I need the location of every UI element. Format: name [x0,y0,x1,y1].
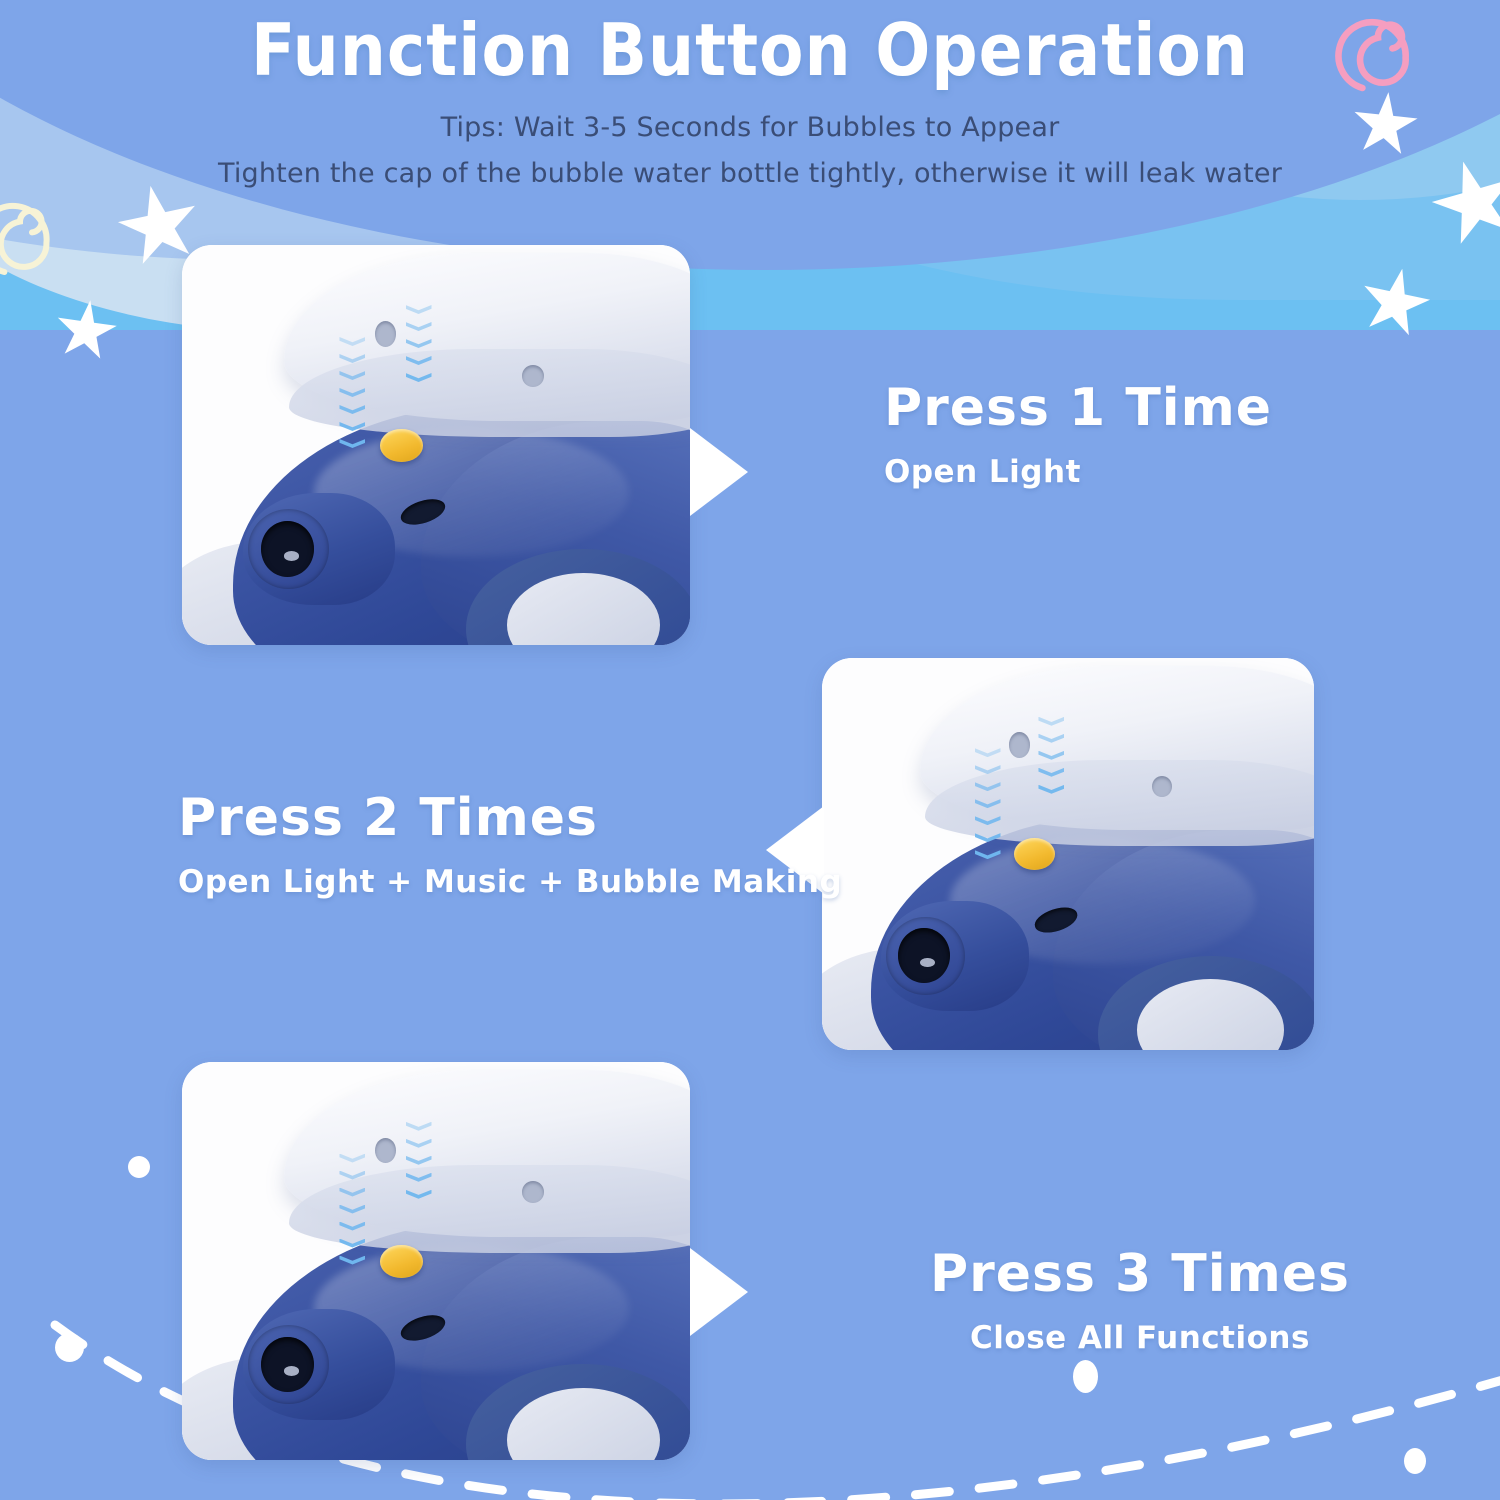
light-chevron-column [975,748,1001,878]
function-button[interactable] [380,429,423,462]
product-photo-1 [182,245,690,645]
step-heading-2: Press 2 Times [178,788,838,848]
step-subheading-2: Open Light + Music + Bubble Making [178,864,838,900]
light-chevron-column [339,337,365,467]
toy-nozzle-glint [284,551,299,561]
step-caption-3: Press 3 Times Close All Functions [860,1244,1420,1356]
step-photo-card-1[interactable] [182,245,690,645]
light-chevron-column [1038,717,1064,812]
product-photo-3 [182,1062,690,1460]
ride-on-toy-illustration [182,1062,690,1460]
toy-nozzle-opening [261,521,314,577]
toy-nozzle-opening [261,1337,314,1393]
step-subheading-3: Close All Functions [860,1320,1420,1356]
step-caption-1: Press 1 Time Open Light [884,378,1404,490]
pointer-arrow-1 [690,428,748,516]
tip-line-1: Tips: Wait 3-5 Seconds for Bubbles to Ap… [0,112,1500,143]
toy-nozzle-opening [898,928,950,983]
infographic-canvas: Function Button Operation Tips: Wait 3-5… [0,0,1500,1500]
step-caption-2: Press 2 Times Open Light + Music + Bubbl… [178,788,838,900]
page-title: Function Button Operation [0,8,1500,92]
step-subheading-1: Open Light [884,454,1404,490]
ride-on-toy-illustration [182,245,690,645]
product-photo-2 [822,658,1314,1050]
dot-icon [128,1156,150,1178]
tip-line-2: Tighten the cap of the bubble water bott… [0,158,1500,189]
toy-seat-hole [522,1181,543,1203]
step-heading-3: Press 3 Times [860,1244,1420,1304]
step-photo-card-2[interactable] [822,658,1314,1050]
light-chevron-column [406,305,432,400]
function-button[interactable] [380,1245,423,1278]
light-chevron-column [406,1122,432,1217]
toy-nozzle-glint [284,1366,299,1376]
step-photo-card-3[interactable] [182,1062,690,1460]
light-chevron-column [339,1154,365,1284]
pointer-arrow-3 [690,1248,748,1336]
toy-seat-hole [1009,732,1030,757]
step-heading-1: Press 1 Time [884,378,1404,438]
ride-on-toy-illustration [822,658,1314,1050]
toy-seat-hole [522,365,543,387]
